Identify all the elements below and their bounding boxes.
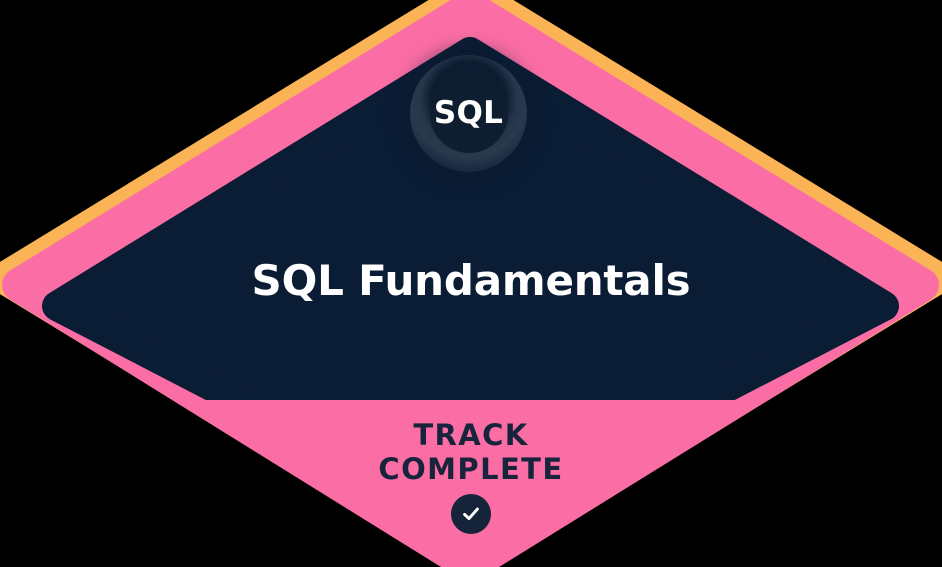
track-badge[interactable]: SQL SQL Fundamentals TRACK COMPLETE [0, 0, 942, 567]
badge-shape-layer [0, 0, 942, 567]
